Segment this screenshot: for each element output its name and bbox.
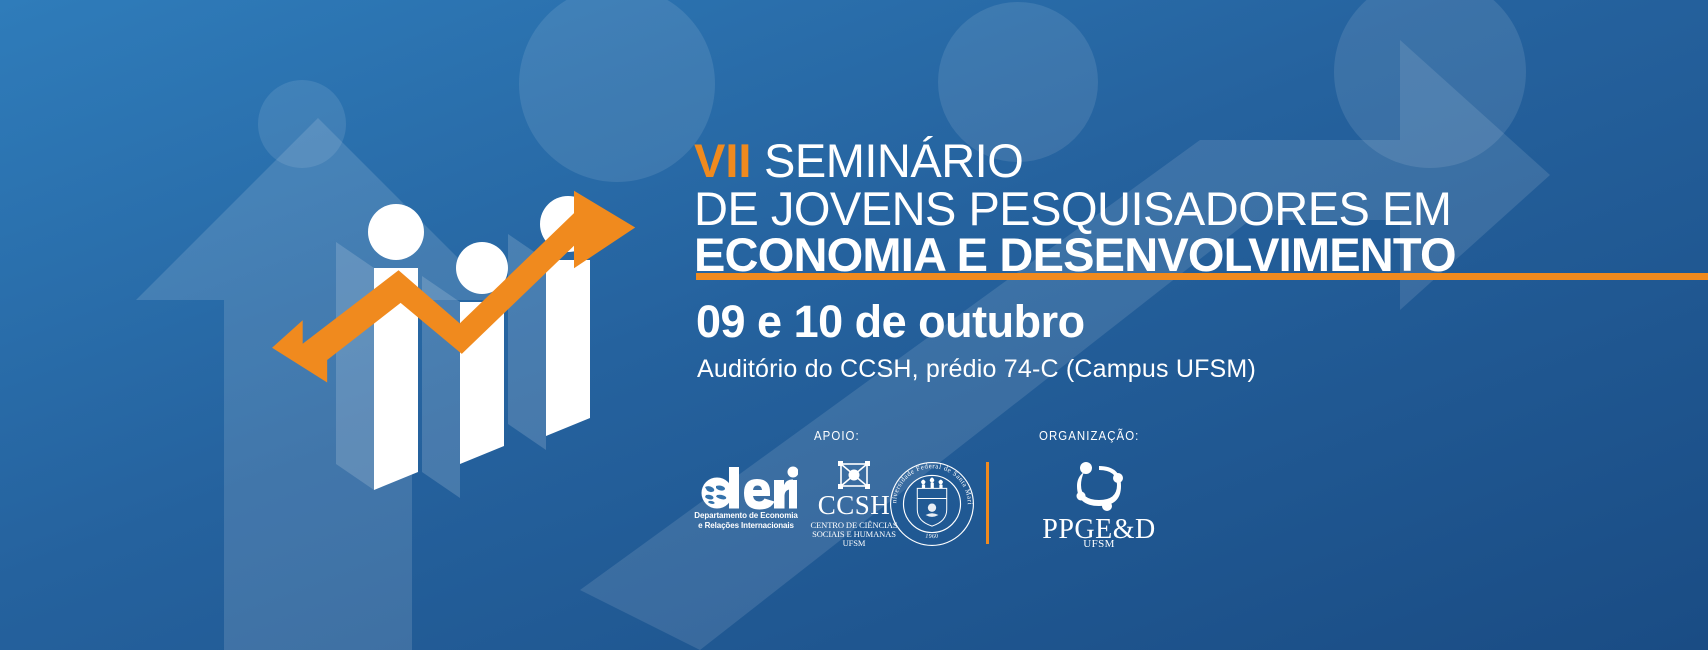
ufsm-seal-logo: Universidade Federal de Santa Maria 1960 (886, 458, 978, 550)
logos-strip: APOIO: ORGANIZAÇÃO: (694, 424, 1708, 574)
ppged-emblem-icon (1069, 458, 1129, 514)
title-line-3: ECONOMIA E DESENVOLVIMENTO (694, 232, 1708, 279)
ppged-logo: PPGE&D UFSM (1024, 458, 1174, 550)
title-line-1: VII SEMINÁRIO (694, 138, 1708, 185)
organization-label: ORGANIZAÇÃO: (1039, 428, 1139, 443)
event-banner: VII SEMINÁRIO DE JOVENS PESQUISADORES EM… (0, 0, 1708, 650)
three-people-growth-emblem (270, 120, 690, 500)
deri-subtitle-line-1: Departamento de Economia (694, 511, 798, 520)
banner-content: VII SEMINÁRIO DE JOVENS PESQUISADORES EM… (694, 0, 1708, 650)
support-label: APOIO: (814, 428, 860, 443)
edition-number: VII (694, 134, 751, 187)
event-date: 09 e 10 de outubro (696, 296, 1085, 348)
ufsm-seal-year: 1960 (925, 533, 939, 540)
ccsh-emblem-icon (836, 460, 872, 490)
event-title: VII SEMINÁRIO DE JOVENS PESQUISADORES EM… (694, 138, 1708, 279)
orange-divider-rule (696, 273, 1708, 280)
title-line-1-rest: SEMINÁRIO (751, 134, 1023, 187)
event-venue: Auditório do CCSH, prédio 74-C (Campus U… (697, 355, 1256, 384)
title-line-2: DE JOVENS PESQUISADORES EM (694, 186, 1708, 233)
deri-logo: Departamento de Economia e Relações Inte… (694, 464, 798, 542)
ppged-subtitle: UFSM (1024, 538, 1174, 550)
deri-subtitle-line-2: e Relações Internacionais (694, 521, 798, 530)
logos-divider (986, 462, 989, 544)
deri-wordmark-icon (694, 464, 798, 511)
